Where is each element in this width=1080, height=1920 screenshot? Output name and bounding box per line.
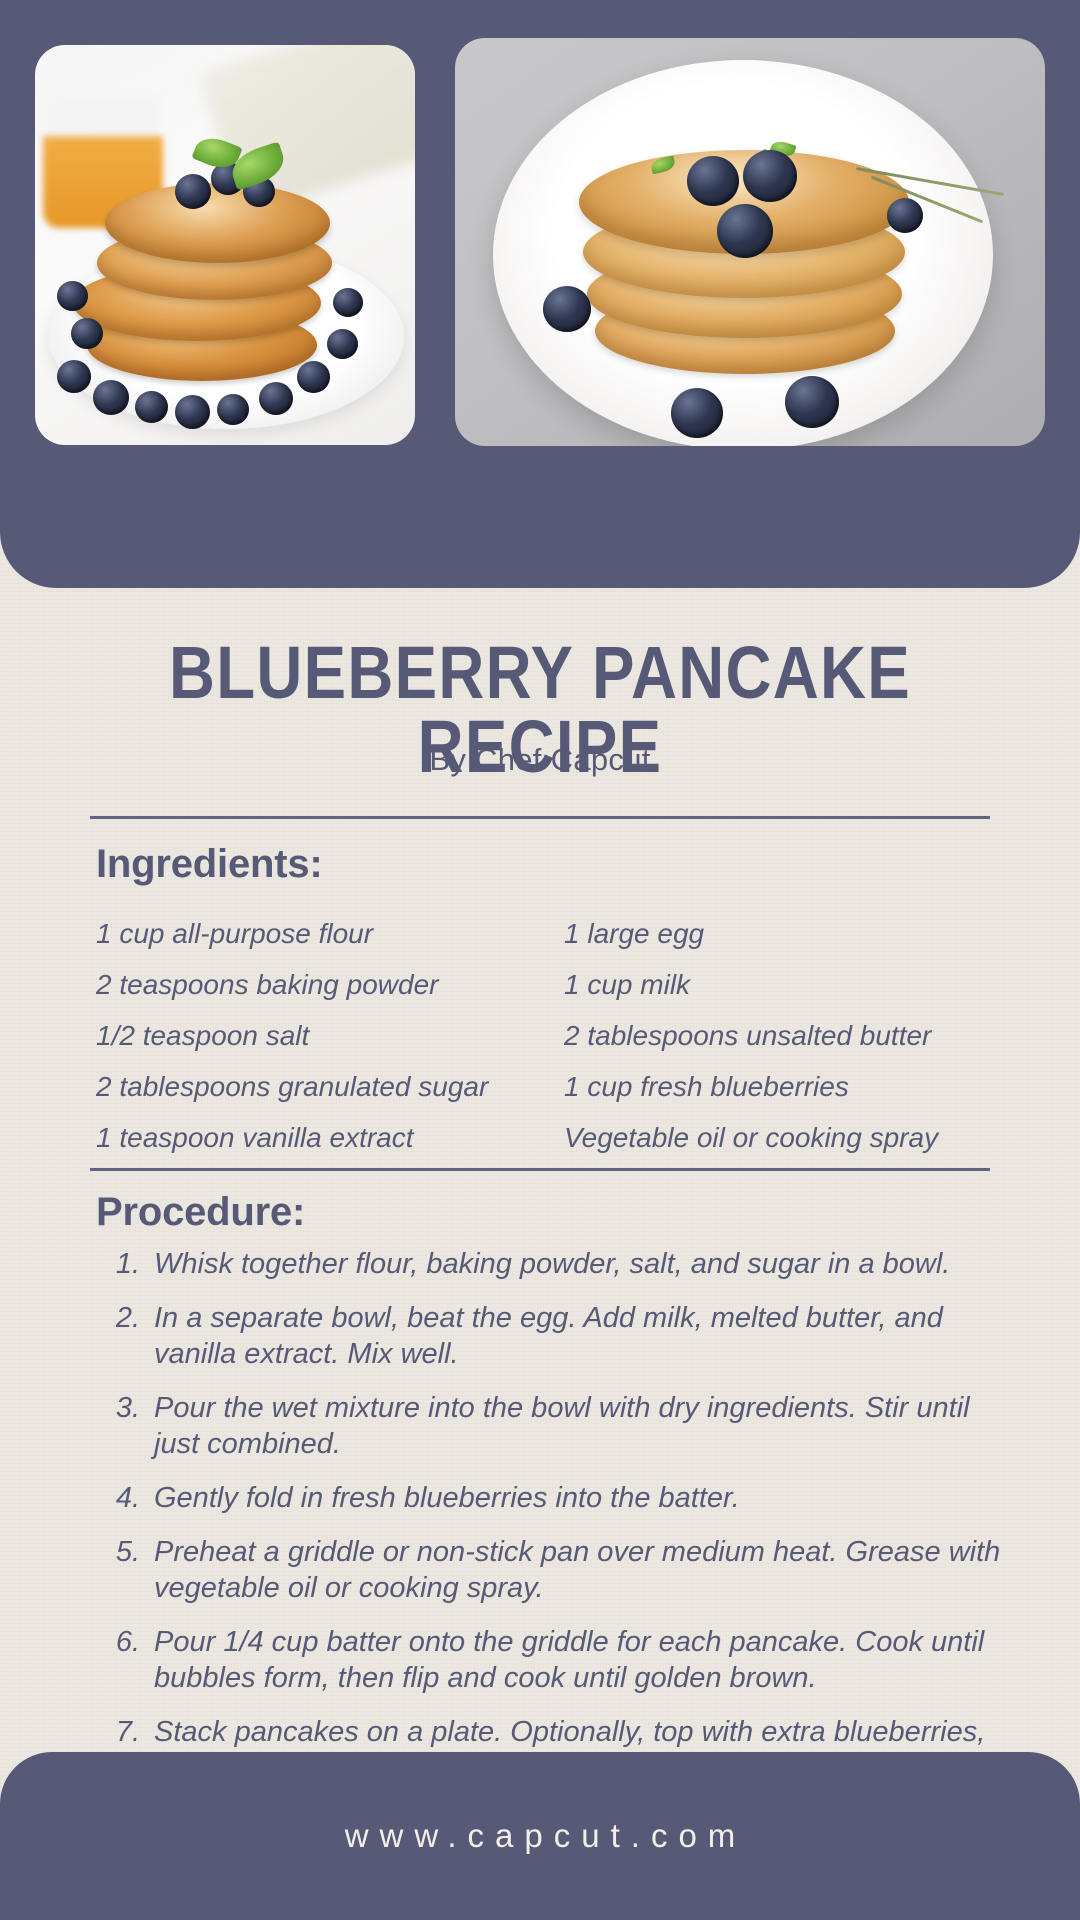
author-subtitle: By Chef Capcut bbox=[0, 742, 1080, 778]
ingredient-item: 1 cup fresh blueberries bbox=[556, 1061, 996, 1112]
step-text: Preheat a griddle or non-stick pan over … bbox=[154, 1534, 1006, 1606]
step-text: Gently fold in fresh blueberries into th… bbox=[154, 1480, 1006, 1516]
procedure-step: 4. Gently fold in fresh blueberries into… bbox=[96, 1480, 1006, 1516]
pancake-stack-with-thyme-photo bbox=[455, 38, 1045, 446]
ingredients-list: 1 cup all-purpose flour 1 large egg 2 te… bbox=[96, 908, 996, 1163]
step-text: In a separate bowl, beat the egg. Add mi… bbox=[154, 1300, 1006, 1372]
step-number: 2. bbox=[96, 1300, 154, 1372]
footer-bar: www.capcut.com bbox=[0, 1752, 1080, 1920]
step-text: Pour the wet mixture into the bowl with … bbox=[154, 1390, 1006, 1462]
ingredient-item: Vegetable oil or cooking spray bbox=[556, 1112, 996, 1163]
procedure-heading: Procedure: bbox=[96, 1190, 305, 1235]
step-text: Whisk together flour, baking powder, sal… bbox=[154, 1246, 1006, 1282]
ingredient-item: 1 large egg bbox=[556, 908, 996, 959]
ingredients-heading: Ingredients: bbox=[96, 842, 323, 887]
step-number: 3. bbox=[96, 1390, 154, 1462]
pancake-stack-with-mint-photo bbox=[35, 45, 415, 445]
ingredient-item: 1 cup all-purpose flour bbox=[96, 908, 556, 959]
divider-above-ingredients bbox=[90, 816, 990, 819]
step-text: Pour 1/4 cup batter onto the griddle for… bbox=[154, 1624, 1006, 1696]
ingredient-item: 1/2 teaspoon salt bbox=[96, 1010, 556, 1061]
step-number: 4. bbox=[96, 1480, 154, 1516]
procedure-list: 1. Whisk together flour, baking powder, … bbox=[96, 1246, 1006, 1804]
step-number: 6. bbox=[96, 1624, 154, 1696]
procedure-step: 5. Preheat a griddle or non-stick pan ov… bbox=[96, 1534, 1006, 1606]
website-url[interactable]: www.capcut.com bbox=[334, 1817, 747, 1855]
ingredient-item: 2 tablespoons unsalted butter bbox=[556, 1010, 996, 1061]
step-number: 5. bbox=[96, 1534, 154, 1606]
ingredient-item: 1 cup milk bbox=[556, 959, 996, 1010]
ingredient-item: 2 teaspoons baking powder bbox=[96, 959, 556, 1010]
header-panel bbox=[0, 0, 1080, 588]
divider-above-procedure bbox=[90, 1168, 990, 1171]
ingredient-item: 1 teaspoon vanilla extract bbox=[96, 1112, 556, 1163]
procedure-step: 2. In a separate bowl, beat the egg. Add… bbox=[96, 1300, 1006, 1372]
step-number: 1. bbox=[96, 1246, 154, 1282]
ingredient-item: 2 tablespoons granulated sugar bbox=[96, 1061, 556, 1112]
procedure-step: 6. Pour 1/4 cup batter onto the griddle … bbox=[96, 1624, 1006, 1696]
procedure-step: 3. Pour the wet mixture into the bowl wi… bbox=[96, 1390, 1006, 1462]
procedure-step: 1. Whisk together flour, baking powder, … bbox=[96, 1246, 1006, 1282]
